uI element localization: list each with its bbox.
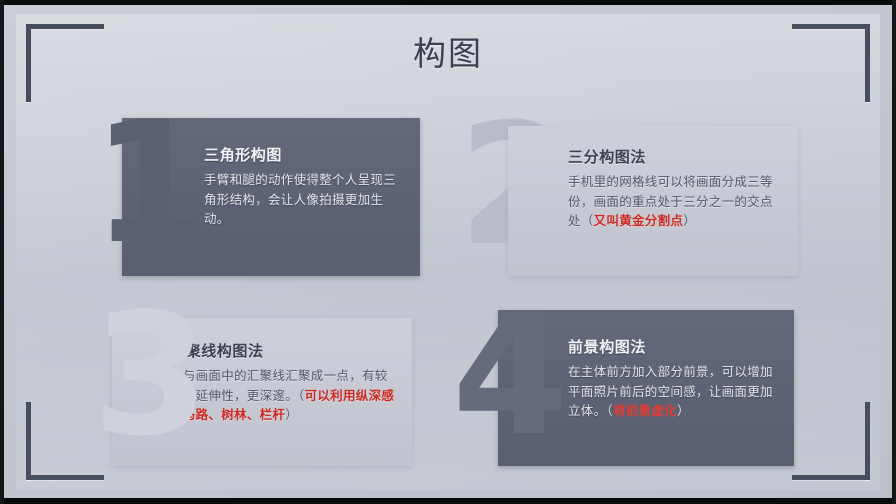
card-2-text: 手机里的网格线可以将画面分成三等份，画面的重点处于三分之一的交点处（又叫黄金分割…: [568, 173, 782, 232]
highlighted-text: 又叫黄金分割点: [594, 214, 684, 228]
corner-bracket-bottom-right: [792, 402, 870, 480]
card-number-1: 1: [92, 108, 205, 258]
page-title: 构图: [0, 34, 896, 74]
card-number-3: 3: [92, 300, 205, 450]
composition-card-2: 三分构图法 手机里的网格线可以将画面分成三等份，画面的重点处于三分之一的交点处（…: [508, 126, 798, 276]
card-1-title: 三角形构图: [204, 146, 400, 166]
card-4-title: 前景构图法: [568, 338, 778, 358]
slide-canvas: 构图 1 2 3 4 三角形构图 手臂和腿的动作使得整个人呈现三角形结构，会让人…: [0, 0, 896, 504]
card-4-text: 在主体前方加入部分前景，可以增加平面照片前后的空间感，让画面更加立体。（将前景虚…: [568, 363, 778, 422]
card-2-title: 三分构图法: [568, 148, 782, 168]
card-number-4: 4: [452, 300, 565, 450]
card-1-text: 手臂和腿的动作使得整个人呈现三角形结构，会让人像拍摄更加生动。: [204, 171, 400, 230]
highlighted-text: 将前景虚化: [613, 404, 677, 418]
